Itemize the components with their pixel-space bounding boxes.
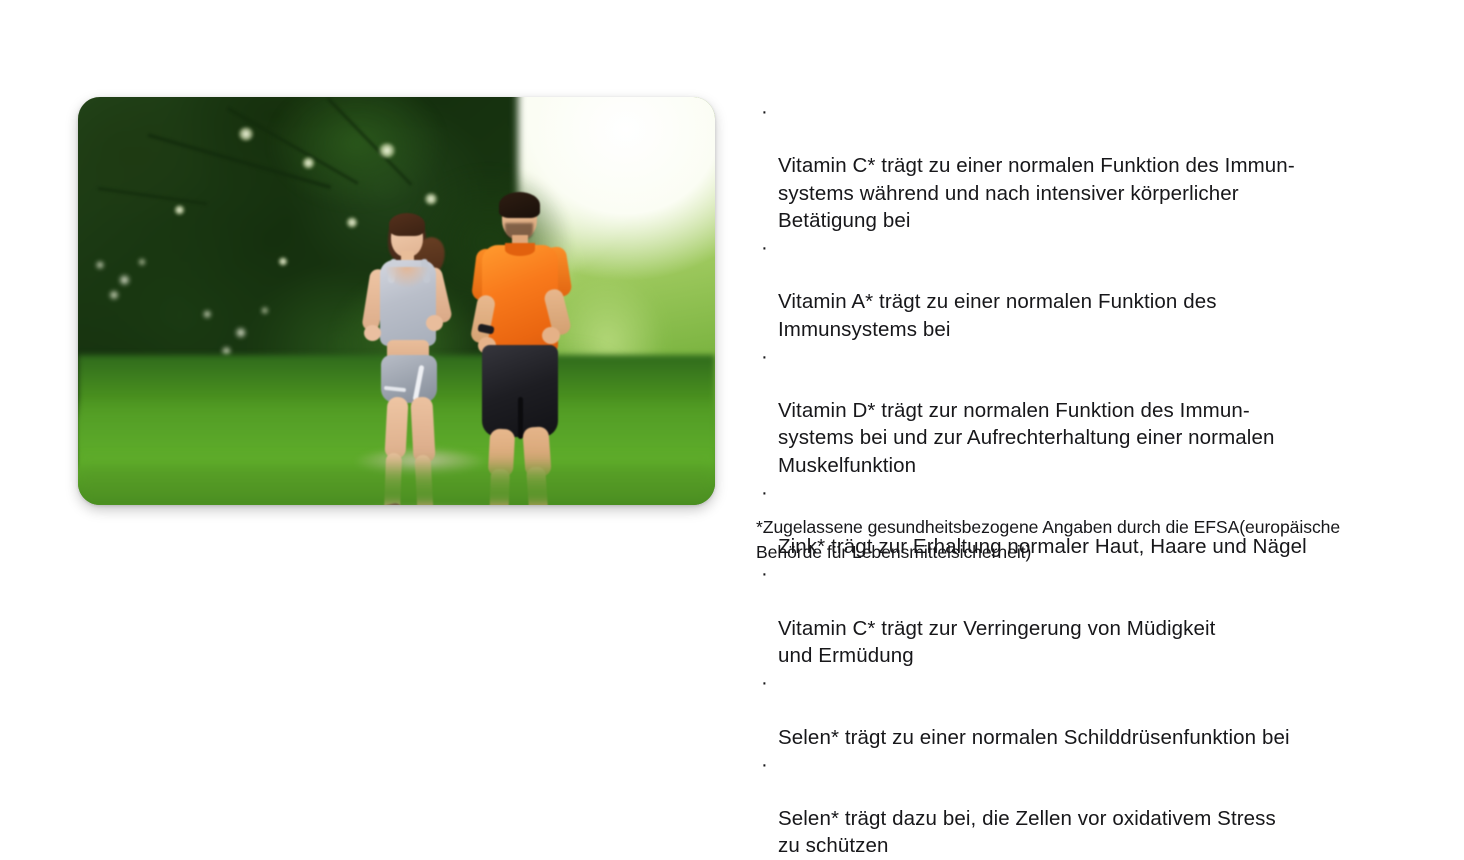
female-fist-left [364,325,381,341]
female-thigh-right [410,396,435,463]
list-item: · Selen* trägt dazu bei, die Zellen vor … [756,751,1446,860]
female-thigh-left [384,396,408,459]
light-sparkle-4 [346,217,358,228]
list-item-text: Selen* trägt zu einer normalen Schilddrü… [778,726,1290,749]
light-sparkle-7 [278,257,288,266]
list-item: · Vitamin C* trägt zur Verringerung von … [756,560,1446,669]
list-item: · Selen* trägt zu einer normalen Schildd… [756,669,1446,751]
male-collar [505,243,535,256]
light-sparkle-2 [302,157,315,169]
list-item: · Vitamin A* trägt zu einer normalen Fun… [756,234,1446,343]
list-item-text: Selen* trägt dazu bei, die Zellen vor ox… [778,807,1276,857]
male-shorts-split [518,397,523,439]
female-fist-right [426,315,443,331]
female-hair-top [389,213,425,236]
hero-photo-card [78,97,715,505]
bullet-marker-icon: · [761,343,768,370]
light-sparkle-1 [238,127,254,141]
male-hair [499,192,540,218]
list-item-text: Vitamin C* trägt zu einer normalen Funkt… [778,154,1295,231]
list-item-text: Vitamin D* trägt zur normalen Funktion d… [778,399,1274,476]
female-shorts [381,355,437,403]
list-item: · Vitamin C* trägt zu einer normalen Fun… [756,98,1446,234]
list-item-text: Vitamin A* trägt zu einer normalen Funkt… [778,290,1217,340]
light-sparkle-5 [174,205,185,215]
benefits-text-column: · Vitamin C* trägt zu einer normalen Fun… [756,98,1446,860]
list-item-text: Vitamin C* trägt zur Verringerung von Mü… [778,617,1215,667]
bullet-marker-icon: · [761,98,768,125]
grass-foreground-blur [78,457,715,505]
bullet-marker-icon: · [761,479,768,506]
light-sparkle-3 [378,143,396,158]
blossom-cluster-1 [86,247,156,307]
bullet-marker-icon: · [761,751,768,778]
photo-scene [78,97,715,505]
bullet-marker-icon: · [761,234,768,261]
light-sparkle-6 [424,193,438,205]
female-chest-skin [384,267,430,289]
list-item: · Vitamin D* trägt zur normalen Funktion… [756,343,1446,479]
efsa-footnote: *Zugelassene gesundheitsbezogene Angaben… [756,515,1456,565]
bullet-marker-icon: · [761,669,768,696]
male-fist-right [542,327,560,344]
benefits-list: · Vitamin C* trägt zu einer normalen Fun… [756,98,1446,860]
